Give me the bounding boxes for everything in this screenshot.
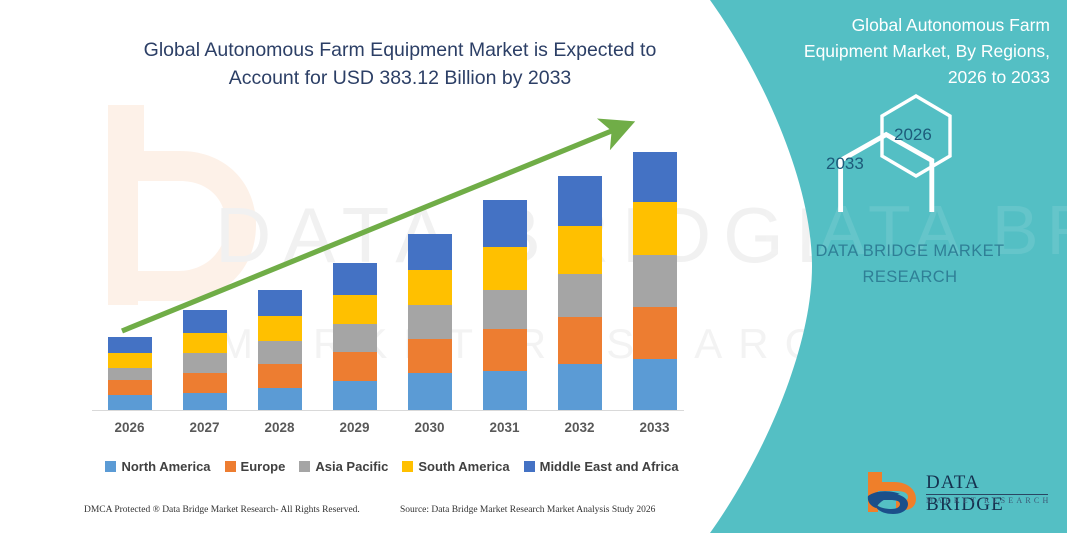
x-axis-label-2026: 2026 — [100, 420, 160, 435]
hexagon-group: 2033 2026 — [770, 92, 1050, 212]
footer: DMCA Protected ® Data Bridge Market Rese… — [0, 505, 720, 527]
legend-swatch-icon — [402, 461, 413, 472]
bar-segment — [183, 393, 227, 411]
infographic-canvas: DATA BRIDGE MARKET RESEARCH Global Auton… — [0, 0, 1067, 533]
bar-segment — [108, 380, 152, 395]
footer-copyright: DMCA Protected ® Data Bridge Market Rese… — [84, 505, 360, 515]
trend-arrow-icon — [92, 110, 692, 350]
legend-swatch-icon — [524, 461, 535, 472]
legend-item[interactable]: North America — [105, 459, 210, 474]
x-axis-label-2030: 2030 — [400, 420, 460, 435]
hexagon-shapes-icon — [770, 92, 1050, 212]
legend-item[interactable]: Europe — [225, 459, 286, 474]
bar-segment — [183, 373, 227, 393]
legend-item[interactable]: Asia Pacific — [299, 459, 388, 474]
logo-subtitle: MARKET RESEARCH — [926, 496, 1051, 505]
panel-brand-text: DATA BRIDGE MARKET RESEARCH — [770, 238, 1050, 290]
x-axis-label-2033: 2033 — [625, 420, 685, 435]
legend-label: North America — [121, 459, 210, 474]
bar-segment — [558, 364, 602, 411]
page-title: Global Autonomous Farm Equipment Market … — [120, 36, 680, 92]
bar-segment — [408, 373, 452, 411]
panel-title: Global Autonomous Farm Equipment Market,… — [770, 12, 1050, 90]
legend-label: South America — [418, 459, 509, 474]
x-axis-label-2027: 2027 — [175, 420, 235, 435]
hexagon-label-2026: 2026 — [894, 125, 932, 145]
logo-divider — [926, 494, 1048, 495]
bar-segment — [108, 353, 152, 368]
x-axis-label-2031: 2031 — [475, 420, 535, 435]
legend-swatch-icon — [299, 461, 310, 472]
x-axis-label-2028: 2028 — [250, 420, 310, 435]
legend-label: Middle East and Africa — [540, 459, 679, 474]
bar-segment — [183, 353, 227, 373]
footer-source: Source: Data Bridge Market Research Mark… — [400, 505, 655, 515]
x-axis-labels: 20262027202820292030203120322033 — [92, 420, 692, 444]
hexagon-label-2033: 2033 — [826, 154, 864, 174]
bar-segment — [108, 395, 152, 411]
legend-label: Europe — [241, 459, 286, 474]
x-axis-line — [92, 410, 684, 411]
teal-panel-content: DATA BRIDGE Global Autonomous Farm Equip… — [770, 0, 1067, 533]
legend-item[interactable]: Middle East and Africa — [524, 459, 679, 474]
bar-segment — [333, 381, 377, 411]
legend-swatch-icon — [105, 461, 116, 472]
bar-segment — [108, 368, 152, 380]
legend-label: Asia Pacific — [315, 459, 388, 474]
chart-pane: DATA BRIDGE MARKET RESEARCH Global Auton… — [0, 0, 760, 533]
bar-segment — [633, 359, 677, 411]
bar-segment — [333, 352, 377, 381]
x-axis-label-2029: 2029 — [325, 420, 385, 435]
bar-segment — [483, 371, 527, 411]
legend-swatch-icon — [225, 461, 236, 472]
chart-legend: North AmericaEuropeAsia PacificSouth Ame… — [92, 455, 692, 477]
data-bridge-mark-icon — [866, 470, 922, 516]
x-axis-label-2032: 2032 — [550, 420, 610, 435]
brand-logo: DATA BRIDGE MARKET RESEARCH — [866, 470, 1056, 518]
bar-segment — [258, 388, 302, 411]
bar-segment — [258, 364, 302, 388]
legend-item[interactable]: South America — [402, 459, 509, 474]
